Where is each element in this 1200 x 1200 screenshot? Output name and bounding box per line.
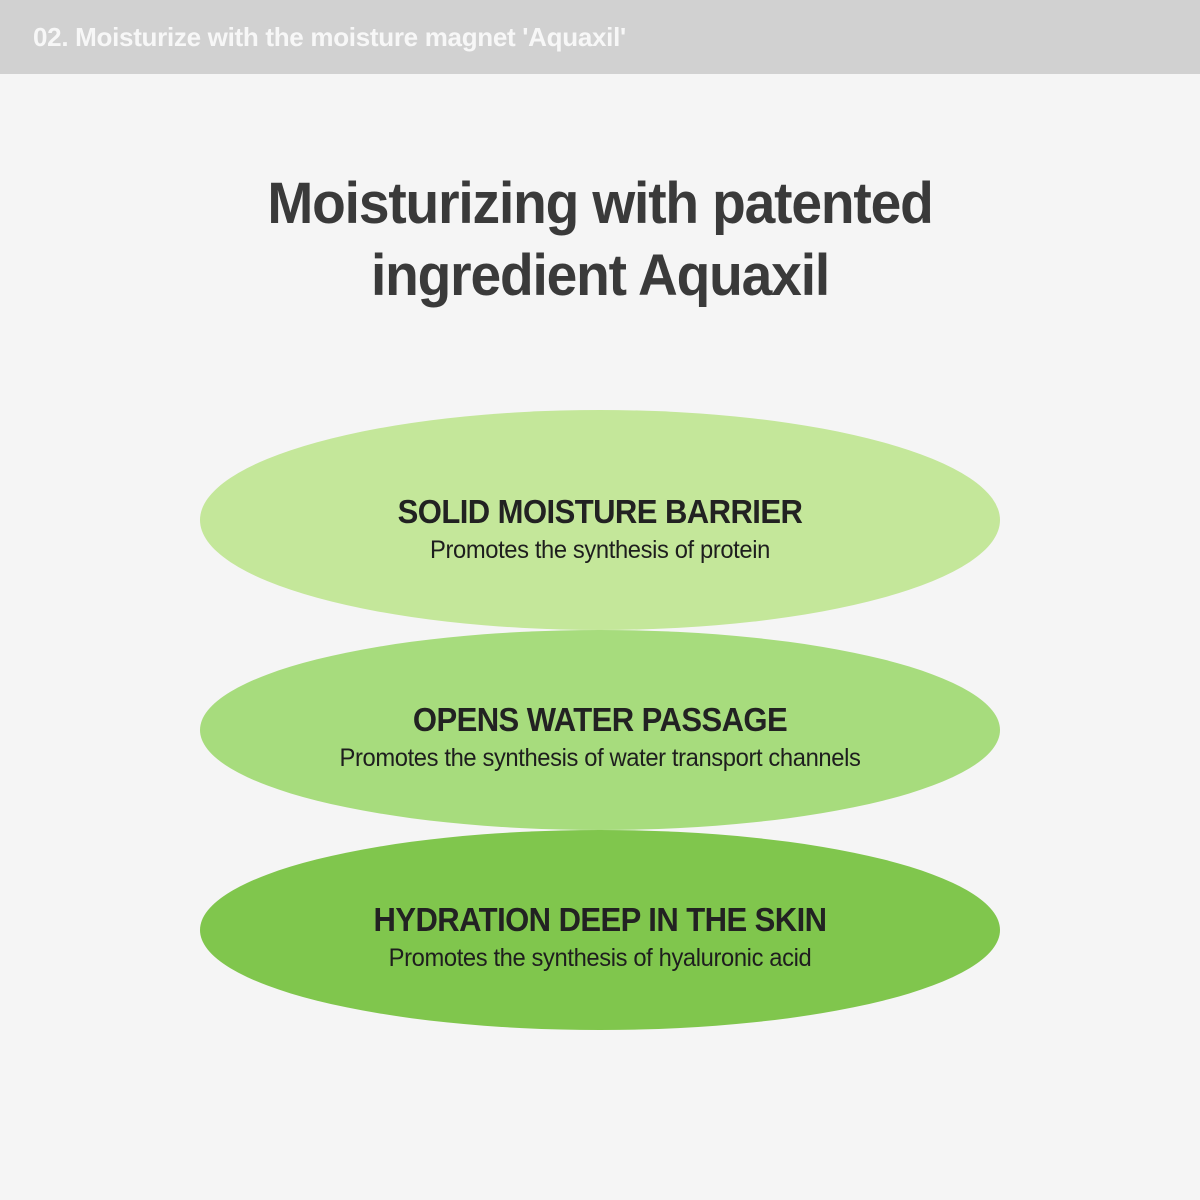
ellipse-layer-text: HYDRATION DEEP IN THE SKIN Promotes the … — [200, 900, 1000, 975]
ellipse-layer-text: SOLID MOISTURE BARRIER Promotes the synt… — [200, 492, 1000, 567]
ellipse-layer-heading: SOLID MOISTURE BARRIER — [224, 492, 976, 532]
ellipse-layer-heading: HYDRATION DEEP IN THE SKIN — [224, 900, 976, 940]
ellipse-layer-subtitle: Promotes the synthesis of hyaluronic aci… — [220, 941, 980, 975]
section-header-label: 02. Moisturize with the moisture magnet … — [33, 20, 626, 54]
page-title-line-1: Moisturizing with patented — [30, 168, 1170, 240]
ellipse-layer-opens-water-passage: OPENS WATER PASSAGE Promotes the synthes… — [200, 630, 1000, 830]
ellipse-layer-subtitle: Promotes the synthesis of water transpor… — [220, 741, 980, 775]
stacked-ellipse-diagram: SOLID MOISTURE BARRIER Promotes the synt… — [200, 410, 1000, 1030]
ellipse-layer-heading: OPENS WATER PASSAGE — [224, 700, 976, 740]
ellipse-layer-subtitle: Promotes the synthesis of protein — [220, 533, 980, 567]
ellipse-layer-solid-moisture-barrier: SOLID MOISTURE BARRIER Promotes the synt… — [200, 410, 1000, 630]
ellipse-layer-text: OPENS WATER PASSAGE Promotes the synthes… — [200, 700, 1000, 775]
header-band: 02. Moisturize with the moisture magnet … — [0, 0, 1200, 74]
ellipse-layer-hydration-deep-in-the-skin: HYDRATION DEEP IN THE SKIN Promotes the … — [200, 830, 1000, 1030]
page-title: Moisturizing with patented ingredient Aq… — [30, 168, 1170, 312]
page-title-line-2: ingredient Aquaxil — [30, 240, 1170, 312]
